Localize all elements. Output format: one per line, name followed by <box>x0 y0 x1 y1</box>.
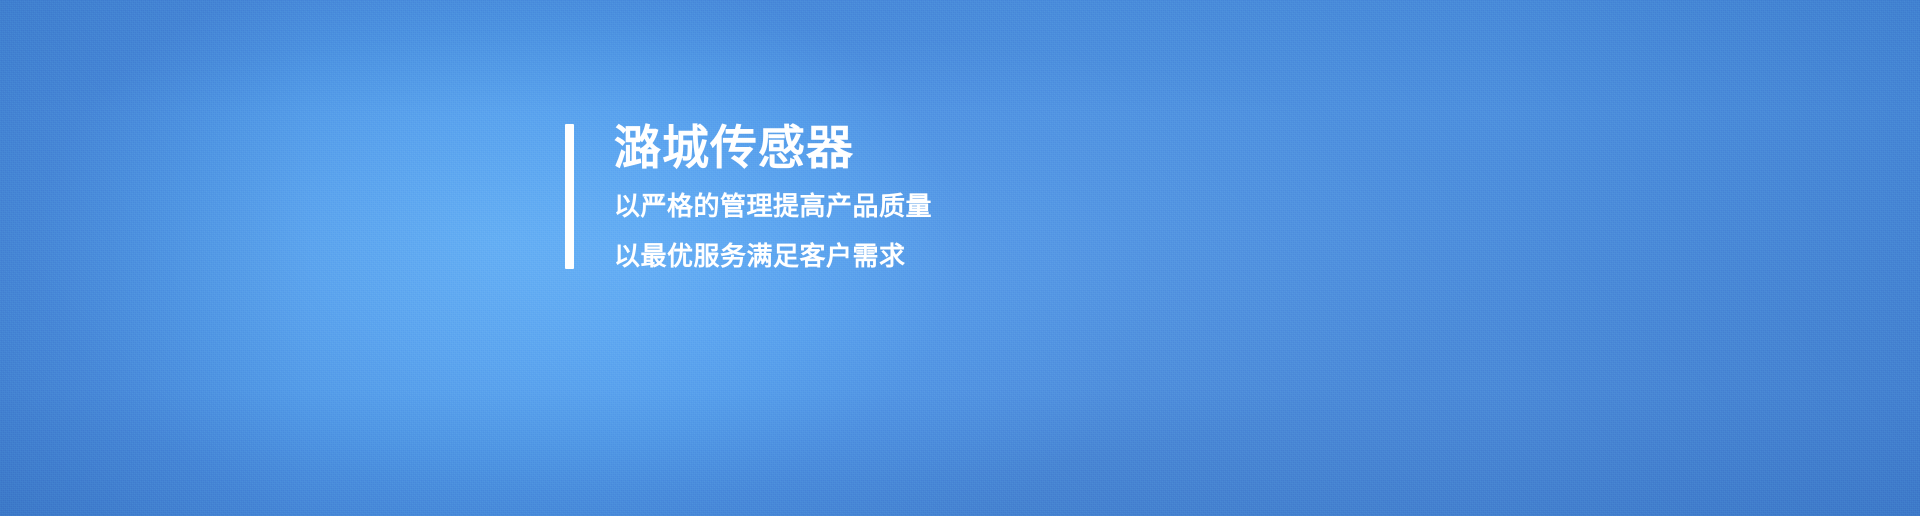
banner-background-noise-texture <box>0 0 1920 516</box>
banner-subtitle-line-2: 以最优服务满足客户需求 <box>614 243 932 269</box>
banner-text-column: 潞城传感器 以严格的管理提高产品质量 以最优服务满足客户需求 <box>574 124 932 269</box>
hero-banner: 潞城传感器 以严格的管理提高产品质量 以最优服务满足客户需求 <box>0 0 1920 516</box>
banner-subtitle-line-1: 以严格的管理提高产品质量 <box>614 193 932 219</box>
accent-bar <box>565 124 574 269</box>
banner-content: 潞城传感器 以严格的管理提高产品质量 以最优服务满足客户需求 <box>565 124 932 269</box>
banner-title: 潞城传感器 <box>614 124 932 171</box>
